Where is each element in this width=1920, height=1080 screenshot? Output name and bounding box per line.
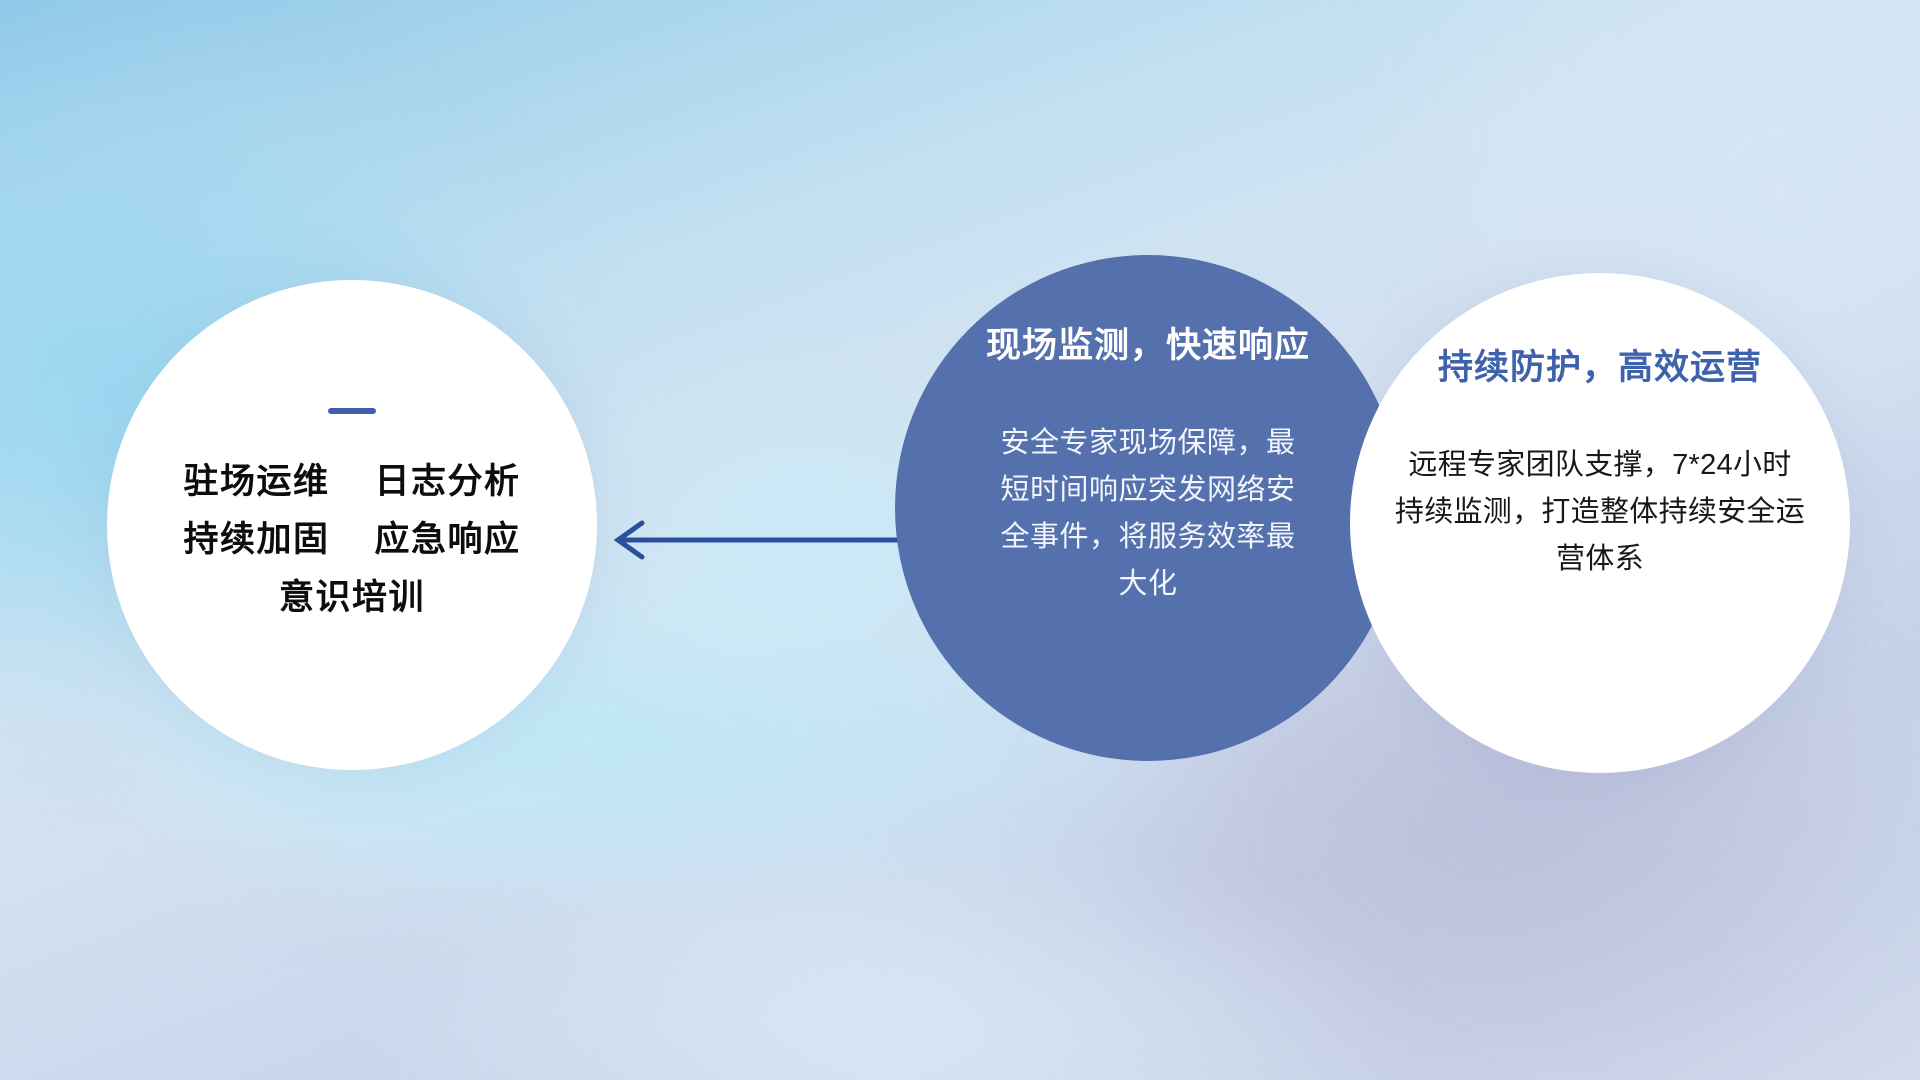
card-onsite-monitoring-content: 现场监测，快速响应 安全专家现场保障，最短时间响应突发网络安全事件，将服务效率最… [895, 255, 1401, 761]
card-onsite-monitoring[interactable]: 现场监测，快速响应 安全专家现场保障，最短时间响应突发网络安全事件，将服务效率最… [895, 255, 1401, 761]
card-continuous-protection-title: 持续防护，高效运营 [1438, 339, 1762, 390]
card-onsite-monitoring-title: 现场监测，快速响应 [986, 317, 1310, 368]
capability-list: 驻场运维 日志分析 持续加固 应急响应 意识培训 [184, 460, 521, 620]
divider-dash-icon [328, 408, 376, 414]
capability-line: 意识培训 [279, 576, 425, 621]
slide-canvas: 驻场运维 日志分析 持续加固 应急响应 意识培训 现场监测，快速响应 安全专家现… [0, 0, 1920, 1080]
card-capabilities-content: 驻场运维 日志分析 持续加固 应急响应 意识培训 [107, 280, 597, 770]
connector-arrow-svg [600, 516, 900, 564]
card-continuous-protection-content: 持续防护，高效运营 远程专家团队支撑，7*24小时持续监测，打造整体持续安全运营… [1350, 273, 1850, 773]
card-capabilities[interactable]: 驻场运维 日志分析 持续加固 应急响应 意识培训 [107, 280, 597, 770]
capability-line: 持续加固 应急响应 [184, 518, 521, 563]
capability-line: 驻场运维 日志分析 [184, 460, 521, 505]
card-continuous-protection-body: 远程专家团队支撑，7*24小时持续监测，打造整体持续安全运营体系 [1394, 442, 1806, 583]
card-onsite-monitoring-body: 安全专家现场保障，最短时间响应突发网络安全事件，将服务效率最大化 [998, 420, 1298, 608]
card-continuous-protection[interactable]: 持续防护，高效运营 远程专家团队支撑，7*24小时持续监测，打造整体持续安全运营… [1350, 273, 1850, 773]
background-glow-bottom [380, 880, 1380, 1080]
connector-arrow-head-icon [618, 523, 642, 557]
connector-arrow [600, 516, 900, 564]
